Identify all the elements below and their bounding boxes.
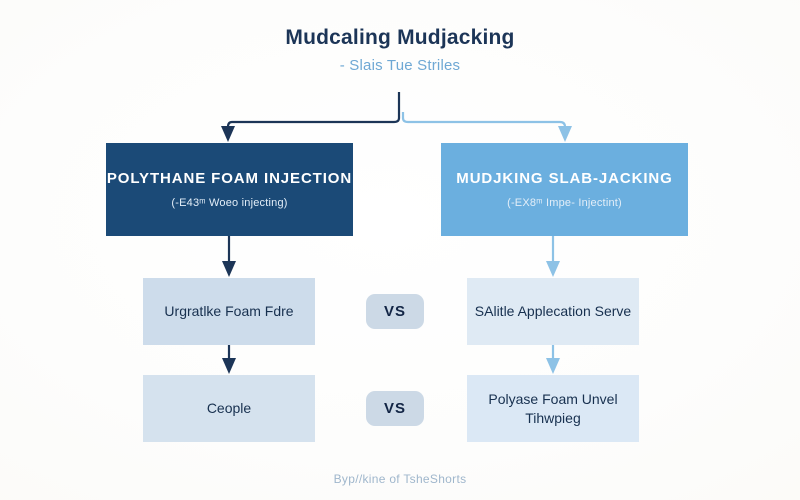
arrowhead-left-branch xyxy=(221,126,235,142)
vs-badge-row-1-label: VS xyxy=(384,303,406,320)
right-step-1-label: SAlitle Applecation Serve xyxy=(475,302,631,320)
footer-caption: Byp//kine of TsheShorts xyxy=(0,472,800,486)
arrowhead-left-step1 xyxy=(222,261,236,277)
vs-badge-row-2-label: VS xyxy=(384,400,406,417)
right-branch-subtitle: (-EX8ᵐ Impe- Injectint) xyxy=(507,197,622,209)
left-branch-title: POLYTHANE FOAM INJECTION xyxy=(107,170,352,189)
arrowhead-right-branch xyxy=(558,126,572,142)
arrowhead-right-step1 xyxy=(546,261,560,277)
chart-title-block: Mudcaling Mudjacking - Slais Tue Striles xyxy=(0,26,800,74)
right-step-1[interactable]: SAlitle Applecation Serve xyxy=(467,278,639,345)
vs-badge-row-1: VS xyxy=(366,294,424,329)
left-step-1-label: Urgratlke Foam Fdre xyxy=(164,302,293,320)
left-branch-subtitle: (-E43ᵐ Woeo injecting) xyxy=(171,197,287,209)
right-step-2[interactable]: Polyase Foam Unvel Tihwpieg xyxy=(467,375,639,442)
connector-elbow-left xyxy=(228,112,399,130)
arrowhead-right-step2 xyxy=(546,358,560,374)
right-branch-header[interactable]: MUDJKING SLAB-JACKING (-EX8ᵐ Impe- Injec… xyxy=(441,143,688,236)
left-step-1[interactable]: Urgratlke Foam Fdre xyxy=(143,278,315,345)
right-branch-title: MUDJKING SLAB-JACKING xyxy=(456,170,672,189)
page-subtitle: - Slais Tue Striles xyxy=(0,57,800,74)
right-step-2-label: Polyase Foam Unvel Tihwpieg xyxy=(467,390,639,426)
page-title: Mudcaling Mudjacking xyxy=(0,26,800,50)
left-branch-header[interactable]: POLYTHANE FOAM INJECTION (-E43ᵐ Woeo inj… xyxy=(106,143,353,236)
vs-badge-row-2: VS xyxy=(366,391,424,426)
connector-elbow-right xyxy=(403,112,565,130)
flowchart-canvas: Mudcaling Mudjacking - Slais Tue Striles… xyxy=(0,0,800,500)
left-step-2[interactable]: Ceople xyxy=(143,375,315,442)
left-step-2-label: Ceople xyxy=(207,399,251,417)
arrowhead-left-step2 xyxy=(222,358,236,374)
